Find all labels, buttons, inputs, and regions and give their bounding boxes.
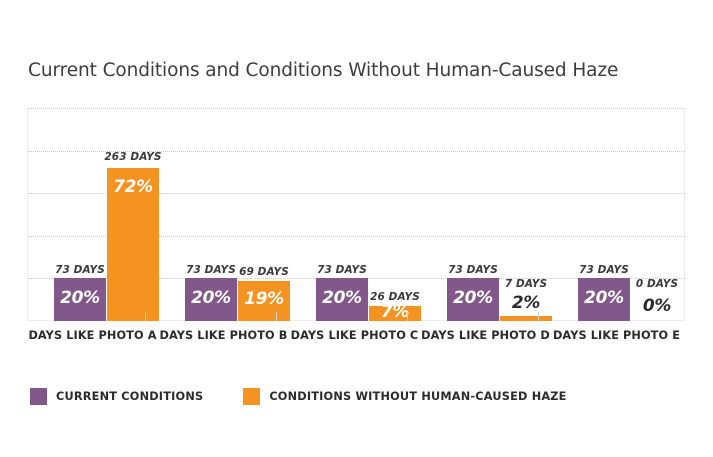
bar-days-label: 73 DAYS <box>572 265 636 276</box>
bar-value-label: 2% <box>500 295 552 312</box>
bar-days-label: 69 DAYS <box>232 267 296 278</box>
bar-group-b: 73 DAYS 20% 69 DAYS 19% <box>185 108 290 321</box>
bar-value-label: 20% <box>185 290 237 307</box>
bar-days-label: 73 DAYS <box>48 265 112 276</box>
category-label-b: DAYS LIKE PHOTO B <box>158 329 289 342</box>
bar-value-label: 20% <box>54 290 106 307</box>
bar-days-label: 73 DAYS <box>310 265 374 276</box>
bar-group-c: 73 DAYS 20% 26 DAYS 7% <box>316 108 421 321</box>
bar-group-d: 73 DAYS 20% 7 DAYS 2% <box>447 108 552 321</box>
category-label-e: DAYS LIKE PHOTO E <box>551 329 682 342</box>
legend-item-current-conditions[interactable]: CURRENT CONDITIONS <box>30 388 203 405</box>
bar-value-label: 20% <box>447 290 499 307</box>
category-axis: DAYS LIKE PHOTO A DAYS LIKE PHOTO B DAYS… <box>27 329 685 347</box>
legend-swatch-icon <box>30 388 47 405</box>
legend-swatch-icon <box>243 388 260 405</box>
axis-tick <box>407 312 408 321</box>
legend-label: CURRENT CONDITIONS <box>56 390 203 403</box>
bar-rect[interactable] <box>500 316 552 321</box>
chart-title: Current Conditions and Conditions Withou… <box>28 60 618 81</box>
category-label-c: DAYS LIKE PHOTO C <box>289 329 420 342</box>
chart-legend: CURRENT CONDITIONS CONDITIONS WITHOUT HU… <box>30 388 607 405</box>
bar-groups: 73 DAYS 20% 263 DAYS 72% 73 DAYS 20% 69 … <box>27 108 685 321</box>
bar-group-e: 73 DAYS 20% 0 DAYS 0% <box>578 108 683 321</box>
category-label-d: DAYS LIKE PHOTO D <box>420 329 551 342</box>
bar-value-label: 0% <box>631 298 683 315</box>
bar-group-a: 73 DAYS 20% 263 DAYS 72% <box>54 108 159 321</box>
legend-item-without-haze[interactable]: CONDITIONS WITHOUT HUMAN-CAUSED HAZE <box>243 388 566 405</box>
bar-days-label: 26 DAYS <box>363 292 427 303</box>
bar-days-label: 73 DAYS <box>441 265 505 276</box>
axis-tick <box>276 312 277 321</box>
bar-value-label: 19% <box>238 291 290 308</box>
bar-value-label: 20% <box>578 290 630 307</box>
bar-days-label: 263 DAYS <box>101 152 165 163</box>
bar-value-label: 20% <box>316 290 368 307</box>
bar-days-label: 7 DAYS <box>494 279 558 290</box>
category-label-a: DAYS LIKE PHOTO A <box>27 329 158 342</box>
bar-days-label: 0 DAYS <box>625 279 689 290</box>
axis-tick <box>145 312 146 321</box>
axis-tick <box>538 312 539 321</box>
bar-value-label: 72% <box>107 179 159 196</box>
legend-label: CONDITIONS WITHOUT HUMAN-CAUSED HAZE <box>269 390 566 403</box>
bar-value-label: 7% <box>369 304 421 321</box>
